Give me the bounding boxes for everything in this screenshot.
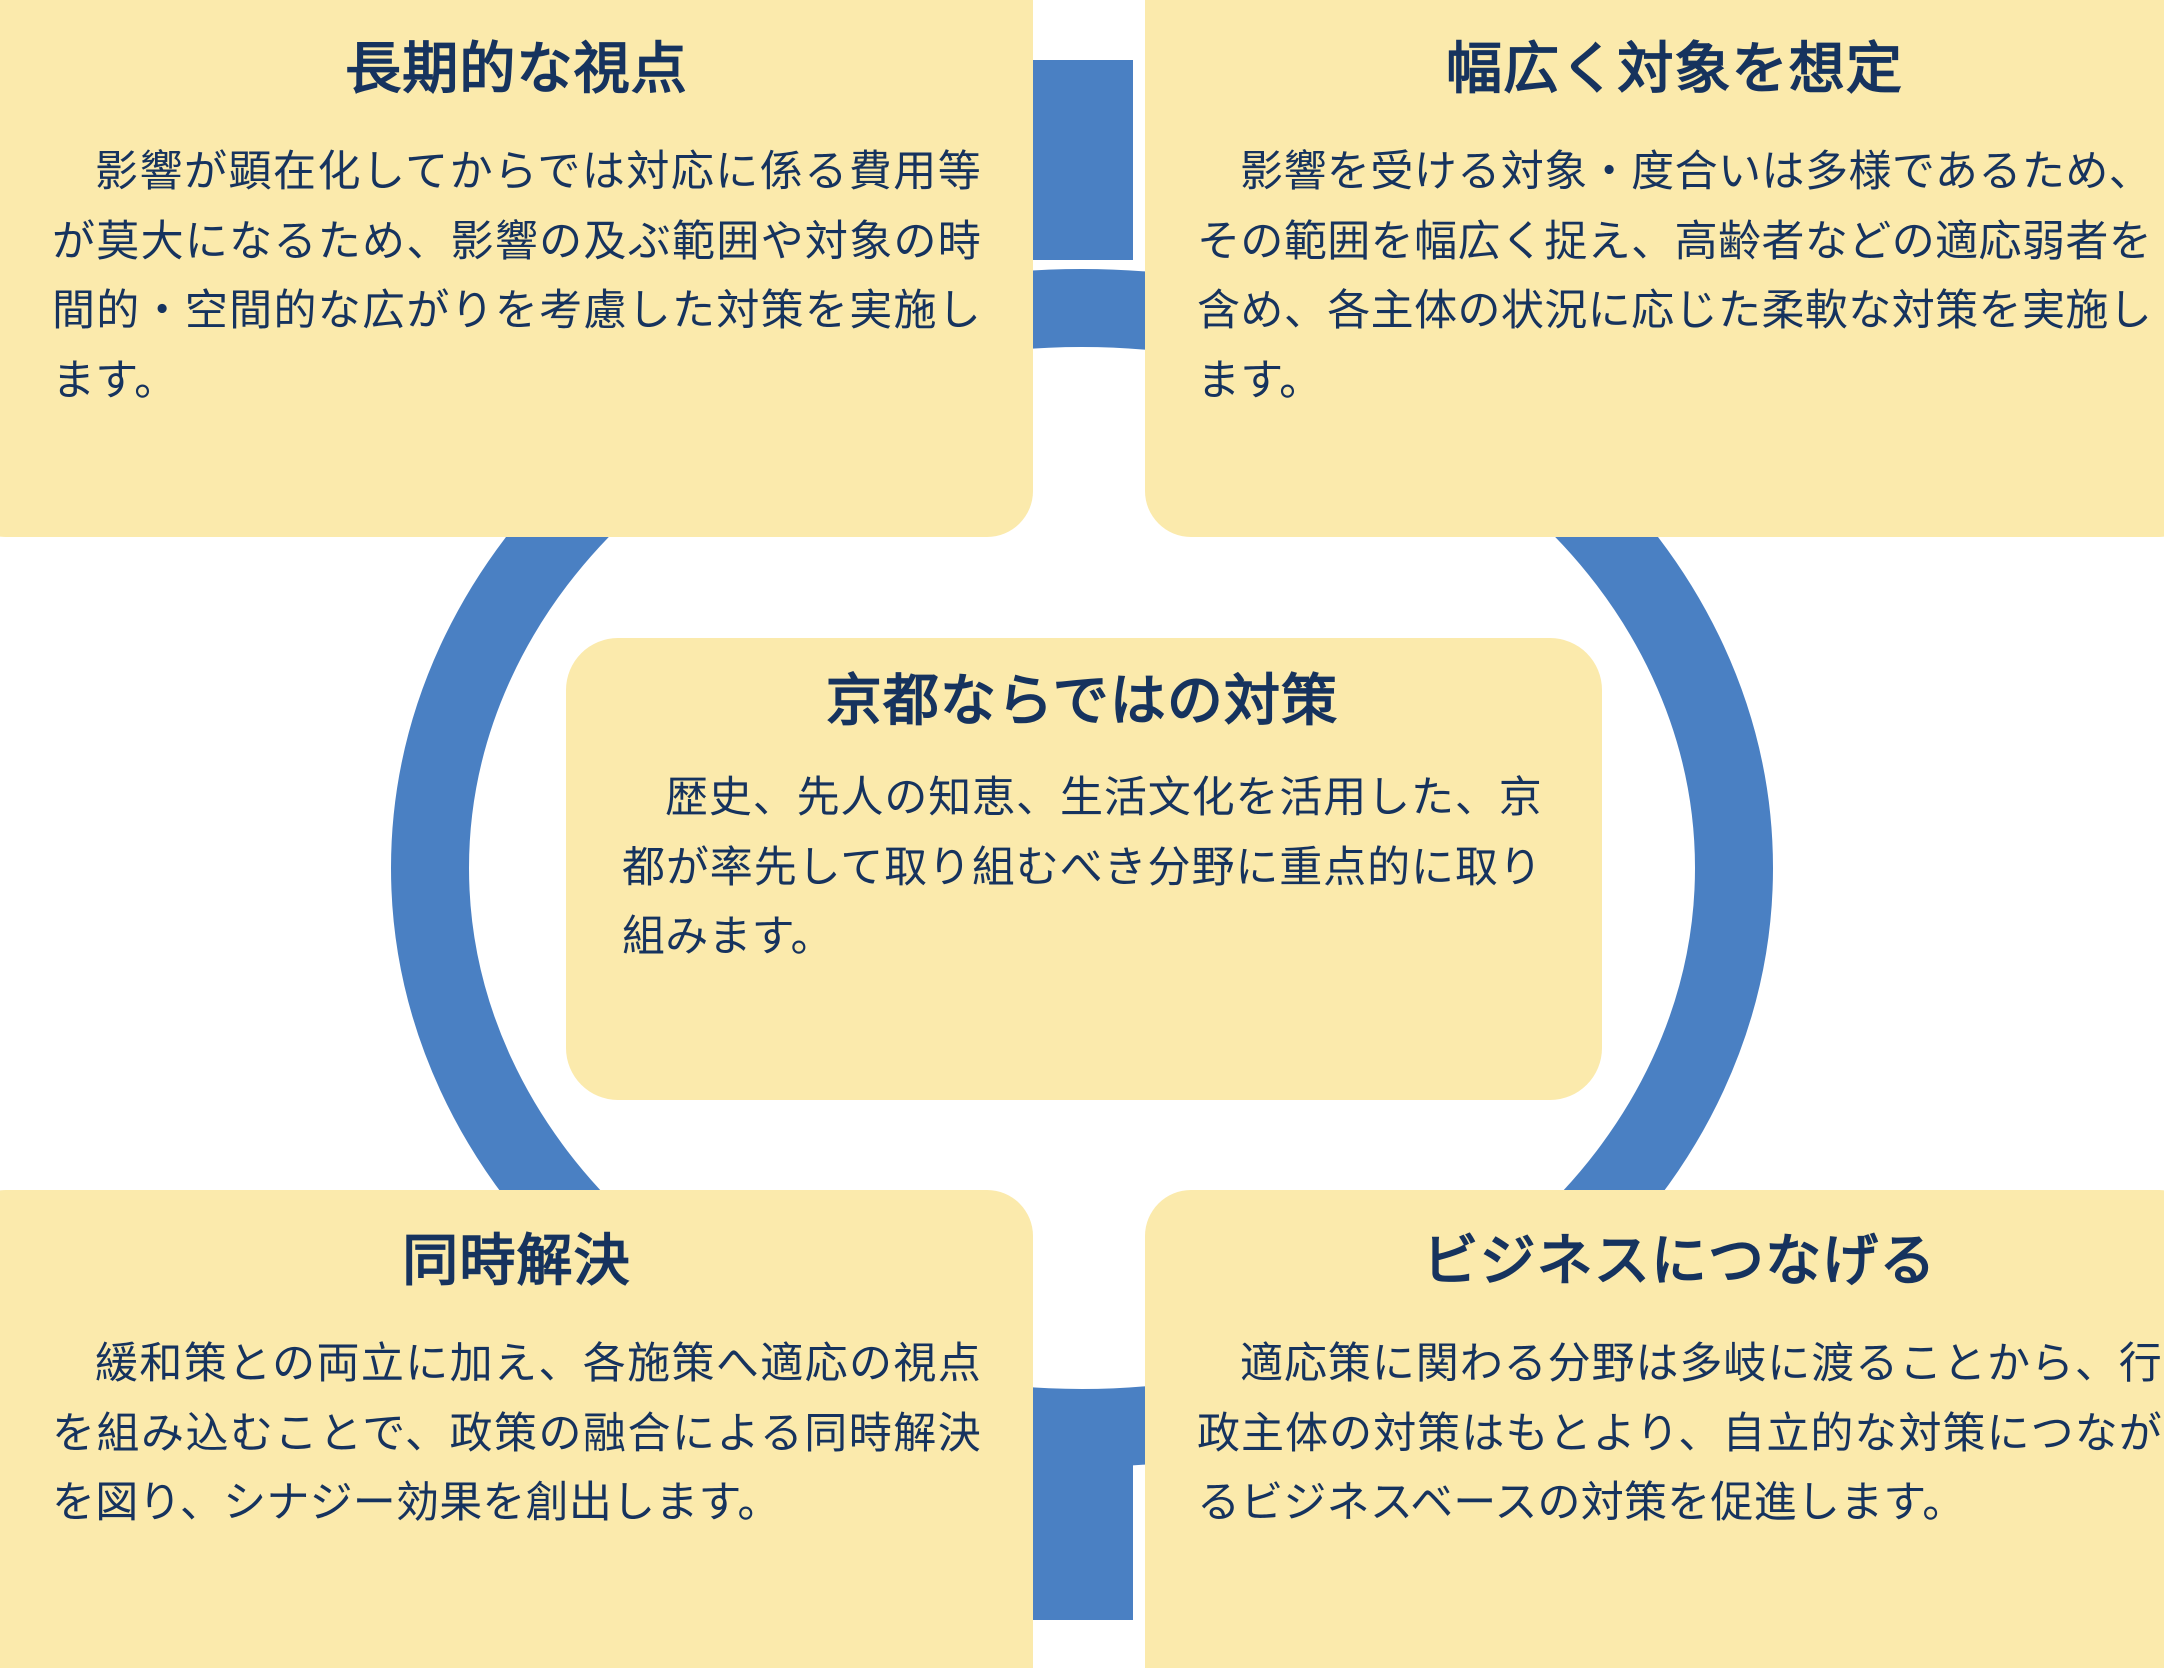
diagram-canvas: 長期的な視点 影響が顕在化してからでは対応に係る費用等が莫大になるため、影響の及… [0,0,2164,1668]
card-title: 長期的な視点 [52,42,981,98]
card-body: 緩和策との両立に加え、各施策へ適応の視点を組み込むことで、政策の融合による同時解… [52,1330,981,1539]
card-simultaneous-solution: 同時解決 緩和策との両立に加え、各施策へ適応の視点を組み込むことで、政策の融合に… [0,1190,1033,1668]
card-broad-target-assumption: 幅広く対象を想定 影響を受ける対象・度合いは多様であるため、その範囲を幅広く捉え… [1145,0,2164,537]
card-title: ビジネスにつなげる [1197,1234,2162,1290]
bottom-bridge-connector [1033,1420,1133,1620]
card-title: 京都ならではの対策 [622,674,1542,730]
top-bridge-connector [1033,60,1133,260]
card-title: 同時解決 [52,1234,981,1290]
card-body: 影響が顕在化してからでは対応に係る費用等が莫大になるため、影響の及ぶ範囲や対象の… [52,138,981,417]
card-long-term-perspective: 長期的な視点 影響が顕在化してからでは対応に係る費用等が莫大になるため、影響の及… [0,0,1033,537]
card-title: 幅広く対象を想定 [1197,42,2152,98]
card-kyoto-specific-measures: 京都ならではの対策 歴史、先人の知恵、生活文化を活用した、京都が率先して取り組む… [566,638,1602,1100]
card-body: 適応策に関わる分野は多岐に渡ることから、行政主体の対策はもとより、自立的な対策に… [1197,1330,2162,1539]
card-connect-to-business: ビジネスにつなげる 適応策に関わる分野は多岐に渡ることから、行政主体の対策はもと… [1145,1190,2164,1668]
card-body: 歴史、先人の知恵、生活文化を活用した、京都が率先して取り組むべき分野に重点的に取… [622,764,1542,973]
card-body: 影響を受ける対象・度合いは多様であるため、その範囲を幅広く捉え、高齢者などの適応… [1197,138,2152,417]
